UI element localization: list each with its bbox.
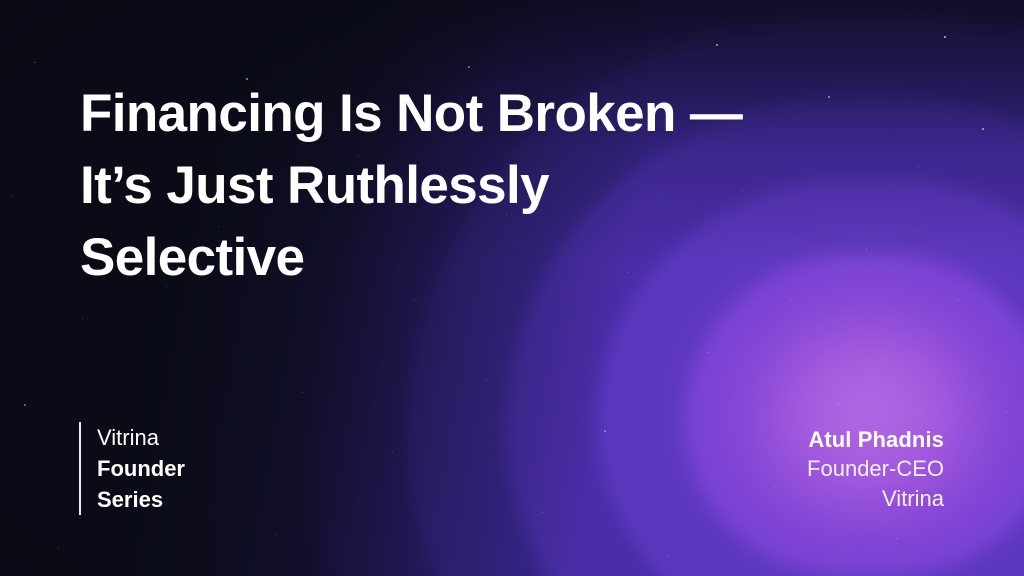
presentation-slide: Financing Is Not Broken — It’s Just Ruth…: [0, 0, 1024, 576]
speaker-organization: Vitrina: [624, 484, 944, 514]
page-title: Financing Is Not Broken — It’s Just Ruth…: [80, 78, 870, 294]
brand-line-series: Series: [97, 484, 185, 515]
speaker-role: Founder-CEO: [624, 454, 944, 484]
brand-line-founder: Founder: [97, 453, 185, 484]
speaker-name: Atul Phadnis: [624, 425, 944, 454]
brand-divider-rule: [79, 422, 81, 515]
brand-text-lines: Vitrina Founder Series: [97, 422, 185, 515]
brand-lockup: Vitrina Founder Series: [79, 422, 185, 515]
brand-line-vitrina: Vitrina: [97, 422, 185, 453]
speaker-credit: Atul Phadnis Founder-CEO Vitrina: [624, 425, 944, 514]
